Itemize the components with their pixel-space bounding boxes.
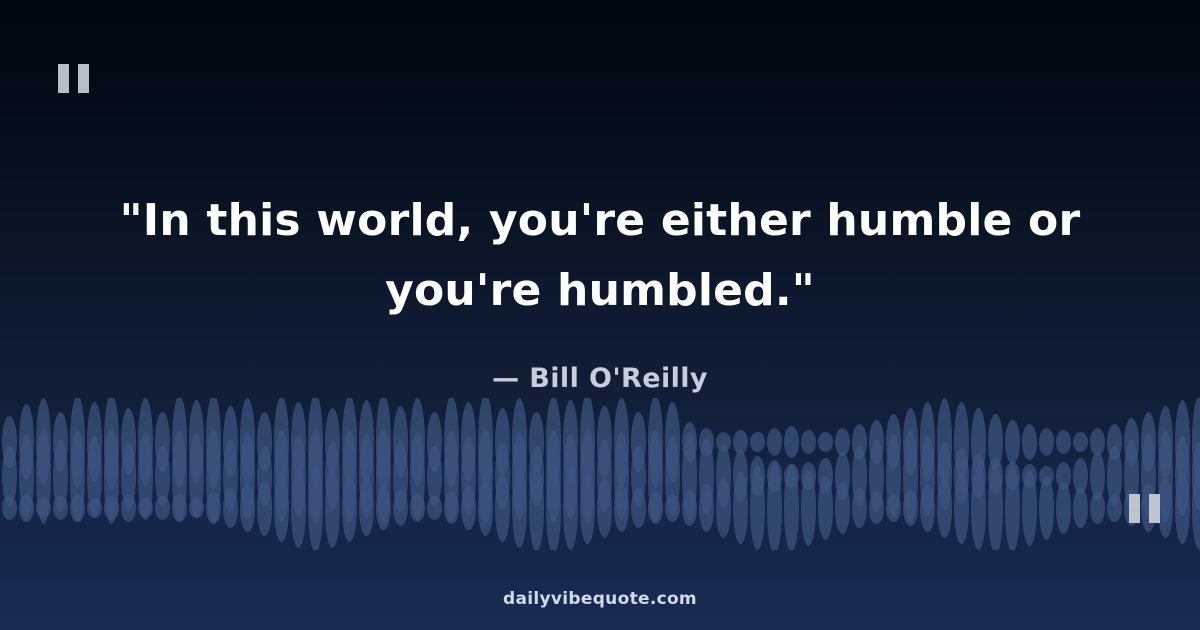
quote-line-1: "In this world, you're either humble or bbox=[0, 186, 1200, 256]
quote-text: "In this world, you're either humble or … bbox=[0, 186, 1200, 326]
audio-waveform-icon bbox=[0, 398, 1200, 550]
quote-mark-bar-right bbox=[1149, 494, 1160, 523]
quote-attribution: — Bill O'Reilly bbox=[0, 363, 1200, 394]
quote-card: "In this world, you're either humble or … bbox=[0, 0, 1200, 630]
quote-line-2: you're humbled." bbox=[0, 256, 1200, 326]
quote-mark-bar-left bbox=[58, 64, 69, 93]
footer-website-url: dailyvibequote.com bbox=[0, 589, 1200, 609]
quote-mark-icon bbox=[58, 64, 89, 93]
quote-mark-bar-right bbox=[78, 64, 89, 93]
quote-mark-icon bbox=[1129, 494, 1160, 523]
quote-mark-bar-left bbox=[1129, 494, 1140, 523]
